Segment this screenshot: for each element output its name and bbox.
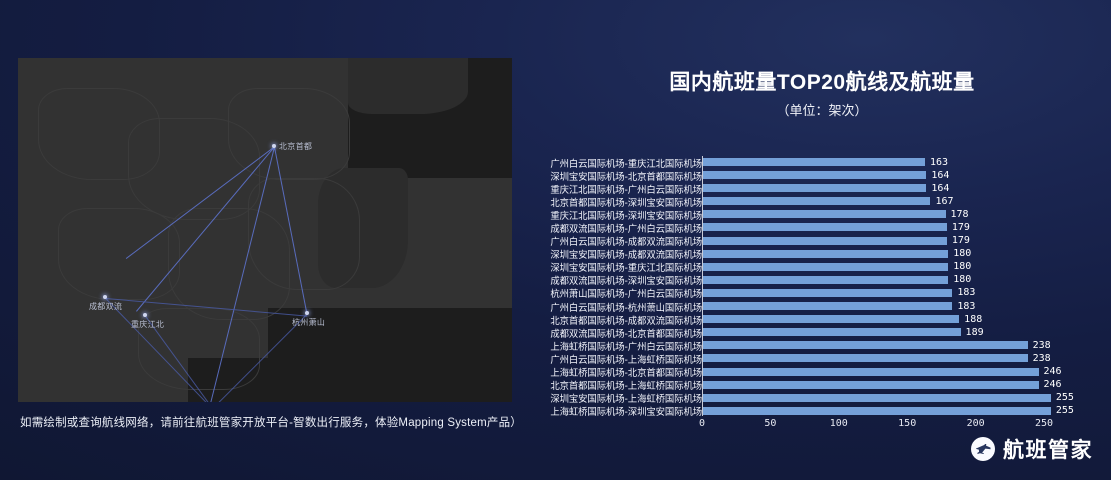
bar-row: 杭州萧山国际机场-广州白云国际机场183 [513, 287, 1101, 300]
bar[interactable] [702, 407, 1051, 415]
bar[interactable] [702, 354, 1028, 362]
bar-row: 深圳宝安国际机场-成都双流国际机场180 [513, 248, 1101, 261]
map-province-3 [58, 208, 180, 300]
bar-row: 广州白云国际机场-杭州萧山国际机场183 [513, 300, 1101, 313]
map-city-dot-chongqing[interactable] [143, 313, 147, 317]
bar-row-plot: 238 [702, 352, 1101, 365]
bar-row: 重庆江北国际机场-广州白云国际机场164 [513, 182, 1101, 195]
bar[interactable] [702, 158, 925, 166]
bar-row-label: 深圳宝安国际机场-成都双流国际机场 [513, 247, 702, 261]
bar-row: 广州白云国际机场-上海虹桥国际机场238 [513, 352, 1101, 365]
bar-value-label: 238 [1033, 353, 1051, 364]
bar-row-plot: 179 [702, 221, 1101, 234]
x-axis-tick: 100 [830, 418, 848, 429]
x-axis-tick: 200 [967, 418, 985, 429]
bar-row: 深圳宝安国际机场-北京首都国际机场164 [513, 169, 1101, 182]
bar-row: 北京首都国际机场-上海虹桥国际机场246 [513, 379, 1101, 392]
chart-title: 国内航班量TOP20航线及航班量 [533, 66, 1111, 96]
bar-value-label: 180 [953, 261, 971, 272]
bar-row: 北京首都国际机场-深圳宝安国际机场167 [513, 195, 1101, 208]
bar-row-label: 上海虹桥国际机场-广州白云国际机场 [513, 339, 702, 353]
bar-row: 上海虹桥国际机场-北京首都国际机场246 [513, 366, 1101, 379]
bar-row-plot: 180 [702, 274, 1101, 287]
bar-row: 成都双流国际机场-深圳宝安国际机场180 [513, 274, 1101, 287]
bar-row-label: 北京首都国际机场-上海虹桥国际机场 [513, 378, 702, 392]
bar[interactable] [702, 328, 961, 336]
bar-row-label: 深圳宝安国际机场-北京首都国际机场 [513, 169, 702, 183]
bar-value-label: 164 [931, 183, 949, 194]
bar[interactable] [702, 289, 952, 297]
map-land-northeast [348, 58, 468, 114]
bar-row-plot: 164 [702, 182, 1101, 195]
bar-row-plot: 246 [702, 379, 1101, 392]
bar[interactable] [702, 368, 1039, 376]
bar-row-label: 深圳宝安国际机场-上海虹桥国际机场 [513, 391, 702, 405]
bar-row: 上海虹桥国际机场-深圳宝安国际机场255 [513, 405, 1101, 418]
bar-value-label: 180 [953, 274, 971, 285]
bar-row: 成都双流国际机场-广州白云国际机场179 [513, 221, 1101, 234]
bar-value-label: 164 [931, 170, 949, 181]
bar-row-plot: 167 [702, 195, 1101, 208]
bar-row-label: 北京首都国际机场-成都双流国际机场 [513, 313, 702, 327]
bar-row-plot: 164 [702, 169, 1101, 182]
bar-row-label: 广州白云国际机场-成都双流国际机场 [513, 234, 702, 248]
bar-row-plot: 183 [702, 300, 1101, 313]
bar-value-label: 255 [1056, 405, 1074, 416]
bar-row-plot: 188 [702, 313, 1101, 326]
bar-row-plot: 255 [702, 392, 1101, 405]
bar[interactable] [702, 302, 952, 310]
bar-row-plot: 255 [702, 405, 1101, 418]
bar-row-label: 深圳宝安国际机场-重庆江北国际机场 [513, 260, 702, 274]
bar[interactable] [702, 263, 948, 271]
x-axis-tick: 0 [699, 418, 705, 429]
bar-row: 上海虹桥国际机场-广州白云国际机场238 [513, 339, 1101, 352]
x-axis-tick: 50 [764, 418, 776, 429]
bar-row: 重庆江北国际机场-深圳宝安国际机场178 [513, 208, 1101, 221]
bar[interactable] [702, 210, 946, 218]
bar-row-label: 重庆江北国际机场-广州白云国际机场 [513, 182, 702, 196]
x-axis-tick: 250 [1035, 418, 1053, 429]
bar-value-label: 238 [1033, 340, 1051, 351]
bar-row-label: 上海虹桥国际机场-深圳宝安国际机场 [513, 404, 702, 418]
map-city-label-beijing: 北京首都 [279, 141, 312, 152]
x-axis-tick: 150 [898, 418, 916, 429]
footer-note: 如需绘制或查询航线网络，请前往航班管家开放平台-智数出行服务，体验Mapping… [20, 414, 522, 430]
bar-row-label: 广州白云国际机场-重庆江北国际机场 [513, 156, 702, 170]
bar-row-label: 成都双流国际机场-深圳宝安国际机场 [513, 273, 702, 287]
map-city-dot-beijing[interactable] [272, 144, 276, 148]
bar-value-label: 167 [935, 196, 953, 207]
bar-value-label: 246 [1044, 366, 1062, 377]
bar-row: 北京首都国际机场-成都双流国际机场188 [513, 313, 1101, 326]
brand-logo: 航班管家 [971, 434, 1093, 464]
bar[interactable] [702, 237, 947, 245]
bar[interactable] [702, 315, 959, 323]
bar-row-label: 重庆江北国际机场-深圳宝安国际机场 [513, 208, 702, 222]
map-city-label-hangzhou: 杭州萧山 [292, 317, 325, 328]
bar-row-label: 北京首都国际机场-深圳宝安国际机场 [513, 195, 702, 209]
bar[interactable] [702, 184, 926, 192]
bar-value-label: 179 [952, 235, 970, 246]
bar-value-label: 180 [953, 248, 971, 259]
chart-subtitle: （单位：架次） [533, 100, 1111, 119]
bar-row-plot: 180 [702, 248, 1101, 261]
bar-chart: 广州白云国际机场-重庆江北国际机场163深圳宝安国际机场-北京首都国际机场164… [513, 156, 1101, 418]
bar-row: 广州白云国际机场-成都双流国际机场179 [513, 235, 1101, 248]
map-city-label-chongqing: 重庆江北 [131, 319, 164, 330]
bar[interactable] [702, 394, 1051, 402]
bar-value-label: 178 [951, 209, 969, 220]
bar-row-plot: 183 [702, 287, 1101, 300]
bar-row-label: 成都双流国际机场-北京首都国际机场 [513, 326, 702, 340]
bar[interactable] [702, 276, 948, 284]
bar-row: 深圳宝安国际机场-重庆江北国际机场180 [513, 261, 1101, 274]
bar-row-plot: 178 [702, 208, 1101, 221]
bar[interactable] [702, 197, 930, 205]
y-axis-line [702, 156, 703, 416]
bar-row-plot: 180 [702, 261, 1101, 274]
map-city-dot-chengdu[interactable] [103, 295, 107, 299]
bar[interactable] [702, 250, 948, 258]
airplane-badge-icon [971, 437, 995, 461]
china-route-map[interactable]: 北京首都 成都双流 重庆江北 杭州萧山 广州白云 航班管家 [18, 58, 512, 402]
bar[interactable] [702, 341, 1028, 349]
bar-value-label: 189 [966, 327, 984, 338]
bar-row-plot: 163 [702, 156, 1101, 169]
bar-row-label: 广州白云国际机场-上海虹桥国际机场 [513, 352, 702, 366]
bar[interactable] [702, 171, 926, 179]
map-city-dot-hangzhou[interactable] [305, 311, 309, 315]
bar-value-label: 183 [957, 301, 975, 312]
bar-row-label: 上海虹桥国际机场-北京首都国际机场 [513, 365, 702, 379]
bar-row-plot: 246 [702, 366, 1101, 379]
bar-value-label: 246 [1044, 379, 1062, 390]
bar-row-plot: 179 [702, 235, 1101, 248]
bar-row: 深圳宝安国际机场-上海虹桥国际机场255 [513, 392, 1101, 405]
bar-value-label: 188 [964, 314, 982, 325]
bar[interactable] [702, 223, 947, 231]
bar-row: 广州白云国际机场-重庆江北国际机场163 [513, 156, 1101, 169]
bar-value-label: 163 [930, 157, 948, 168]
bar-row-plot: 238 [702, 339, 1101, 352]
bar-row-label: 广州白云国际机场-杭州萧山国际机场 [513, 300, 702, 314]
bar-value-label: 183 [957, 287, 975, 298]
map-city-label-chengdu: 成都双流 [89, 301, 122, 312]
bar-row-plot: 189 [702, 326, 1101, 339]
bar-row: 成都双流国际机场-北京首都国际机场189 [513, 326, 1101, 339]
bar-rows: 广州白云国际机场-重庆江北国际机场163深圳宝安国际机场-北京首都国际机场164… [513, 156, 1101, 418]
bar-row-label: 成都双流国际机场-广州白云国际机场 [513, 221, 702, 235]
bar-value-label: 179 [952, 222, 970, 233]
bar[interactable] [702, 381, 1039, 389]
bar-value-label: 255 [1056, 392, 1074, 403]
bar-row-label: 杭州萧山国际机场-广州白云国际机场 [513, 286, 702, 300]
brand-name: 航班管家 [1003, 434, 1093, 464]
map-province-6 [248, 178, 360, 290]
